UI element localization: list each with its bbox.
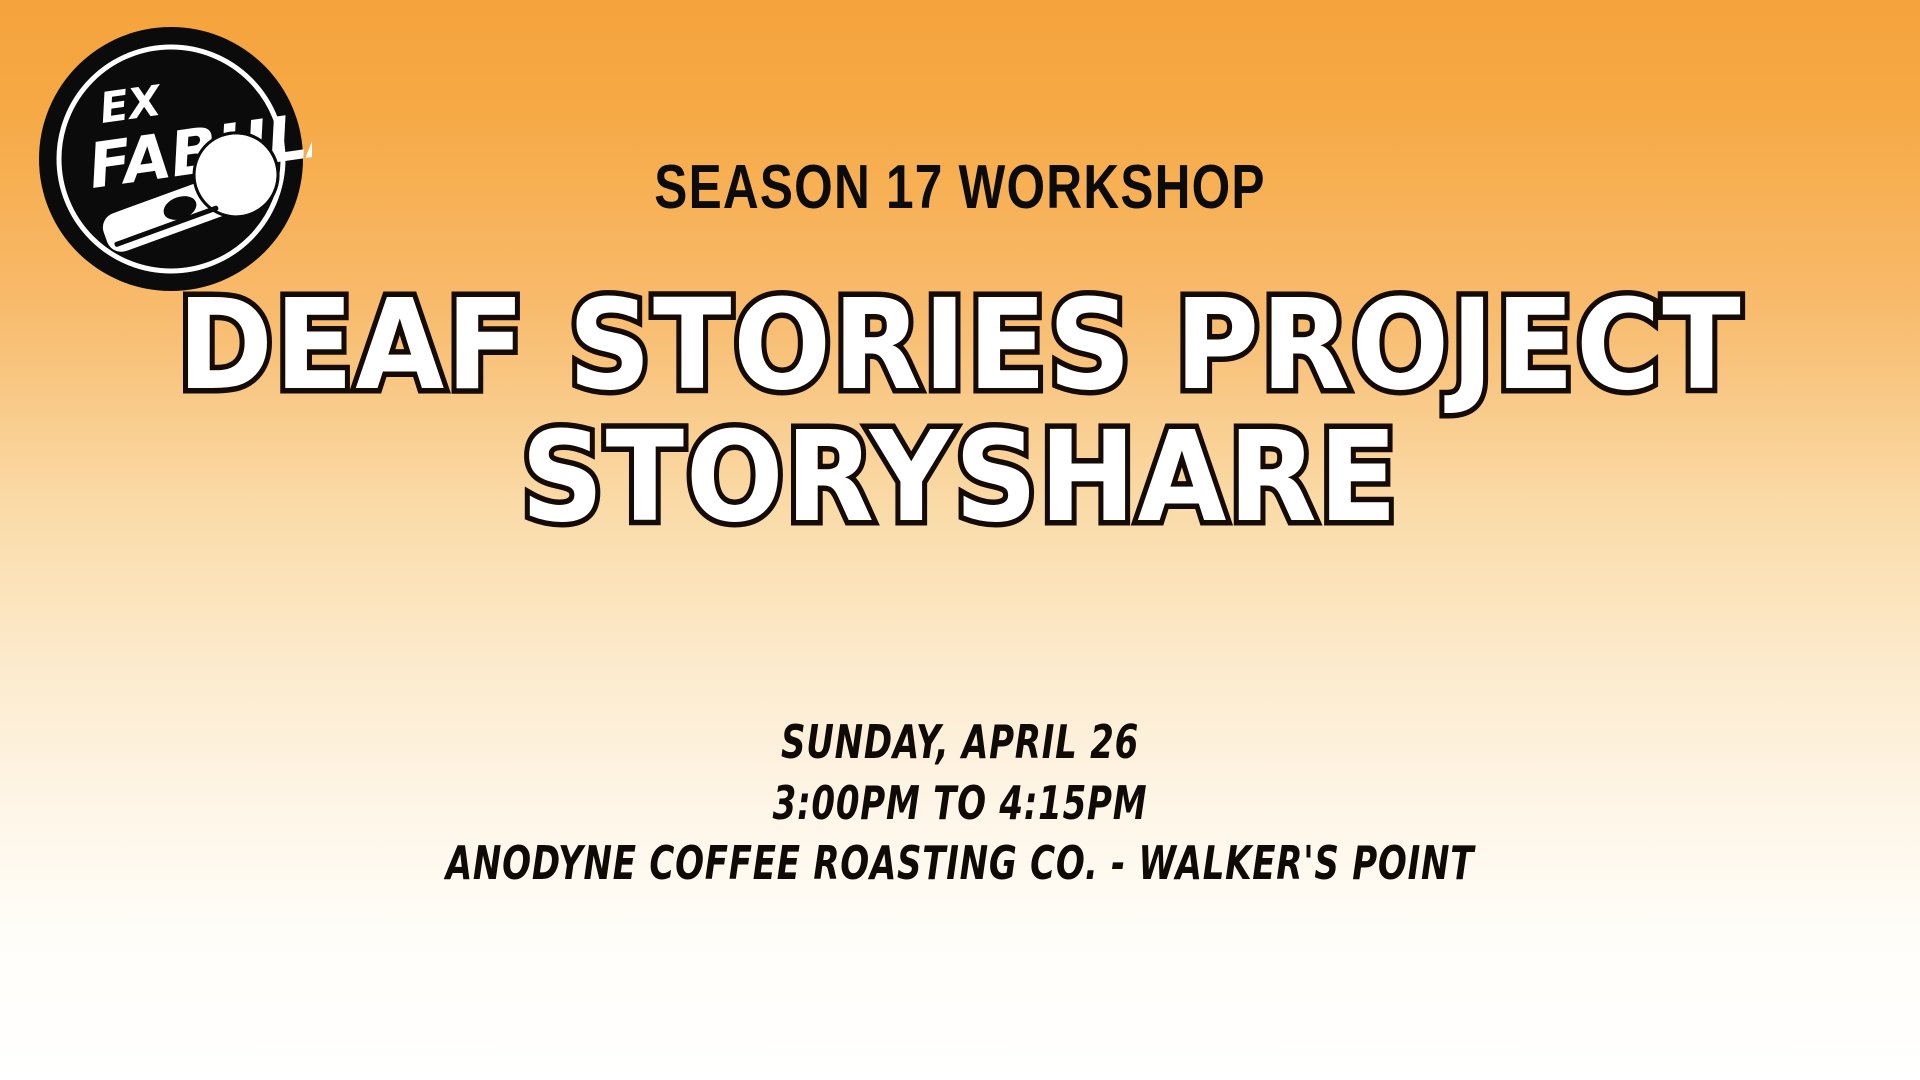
event-date: SUNDAY, APRIL 26	[250, 712, 1671, 773]
headline-season-workshop: SEASON 17 WORKSHOP	[192, 152, 1728, 223]
event-flyer: EX FABULA SEASON 17 WORKSHOP DEAF STORIE…	[0, 0, 1920, 1080]
event-details: SUNDAY, APRIL 26 3:00PM TO 4:15PM ANODYN…	[0, 712, 1920, 894]
event-venue: ANODYNE COFFEE ROASTING CO. - WALKER'S P…	[250, 833, 1671, 894]
title-block: DEAF STORIES PROJECT STORYSHARE	[0, 282, 1920, 541]
title-line-2: STORYSHARE	[77, 414, 1843, 542]
event-time: 3:00PM TO 4:15PM	[250, 773, 1671, 834]
title-line-1: DEAF STORIES PROJECT	[77, 282, 1843, 410]
